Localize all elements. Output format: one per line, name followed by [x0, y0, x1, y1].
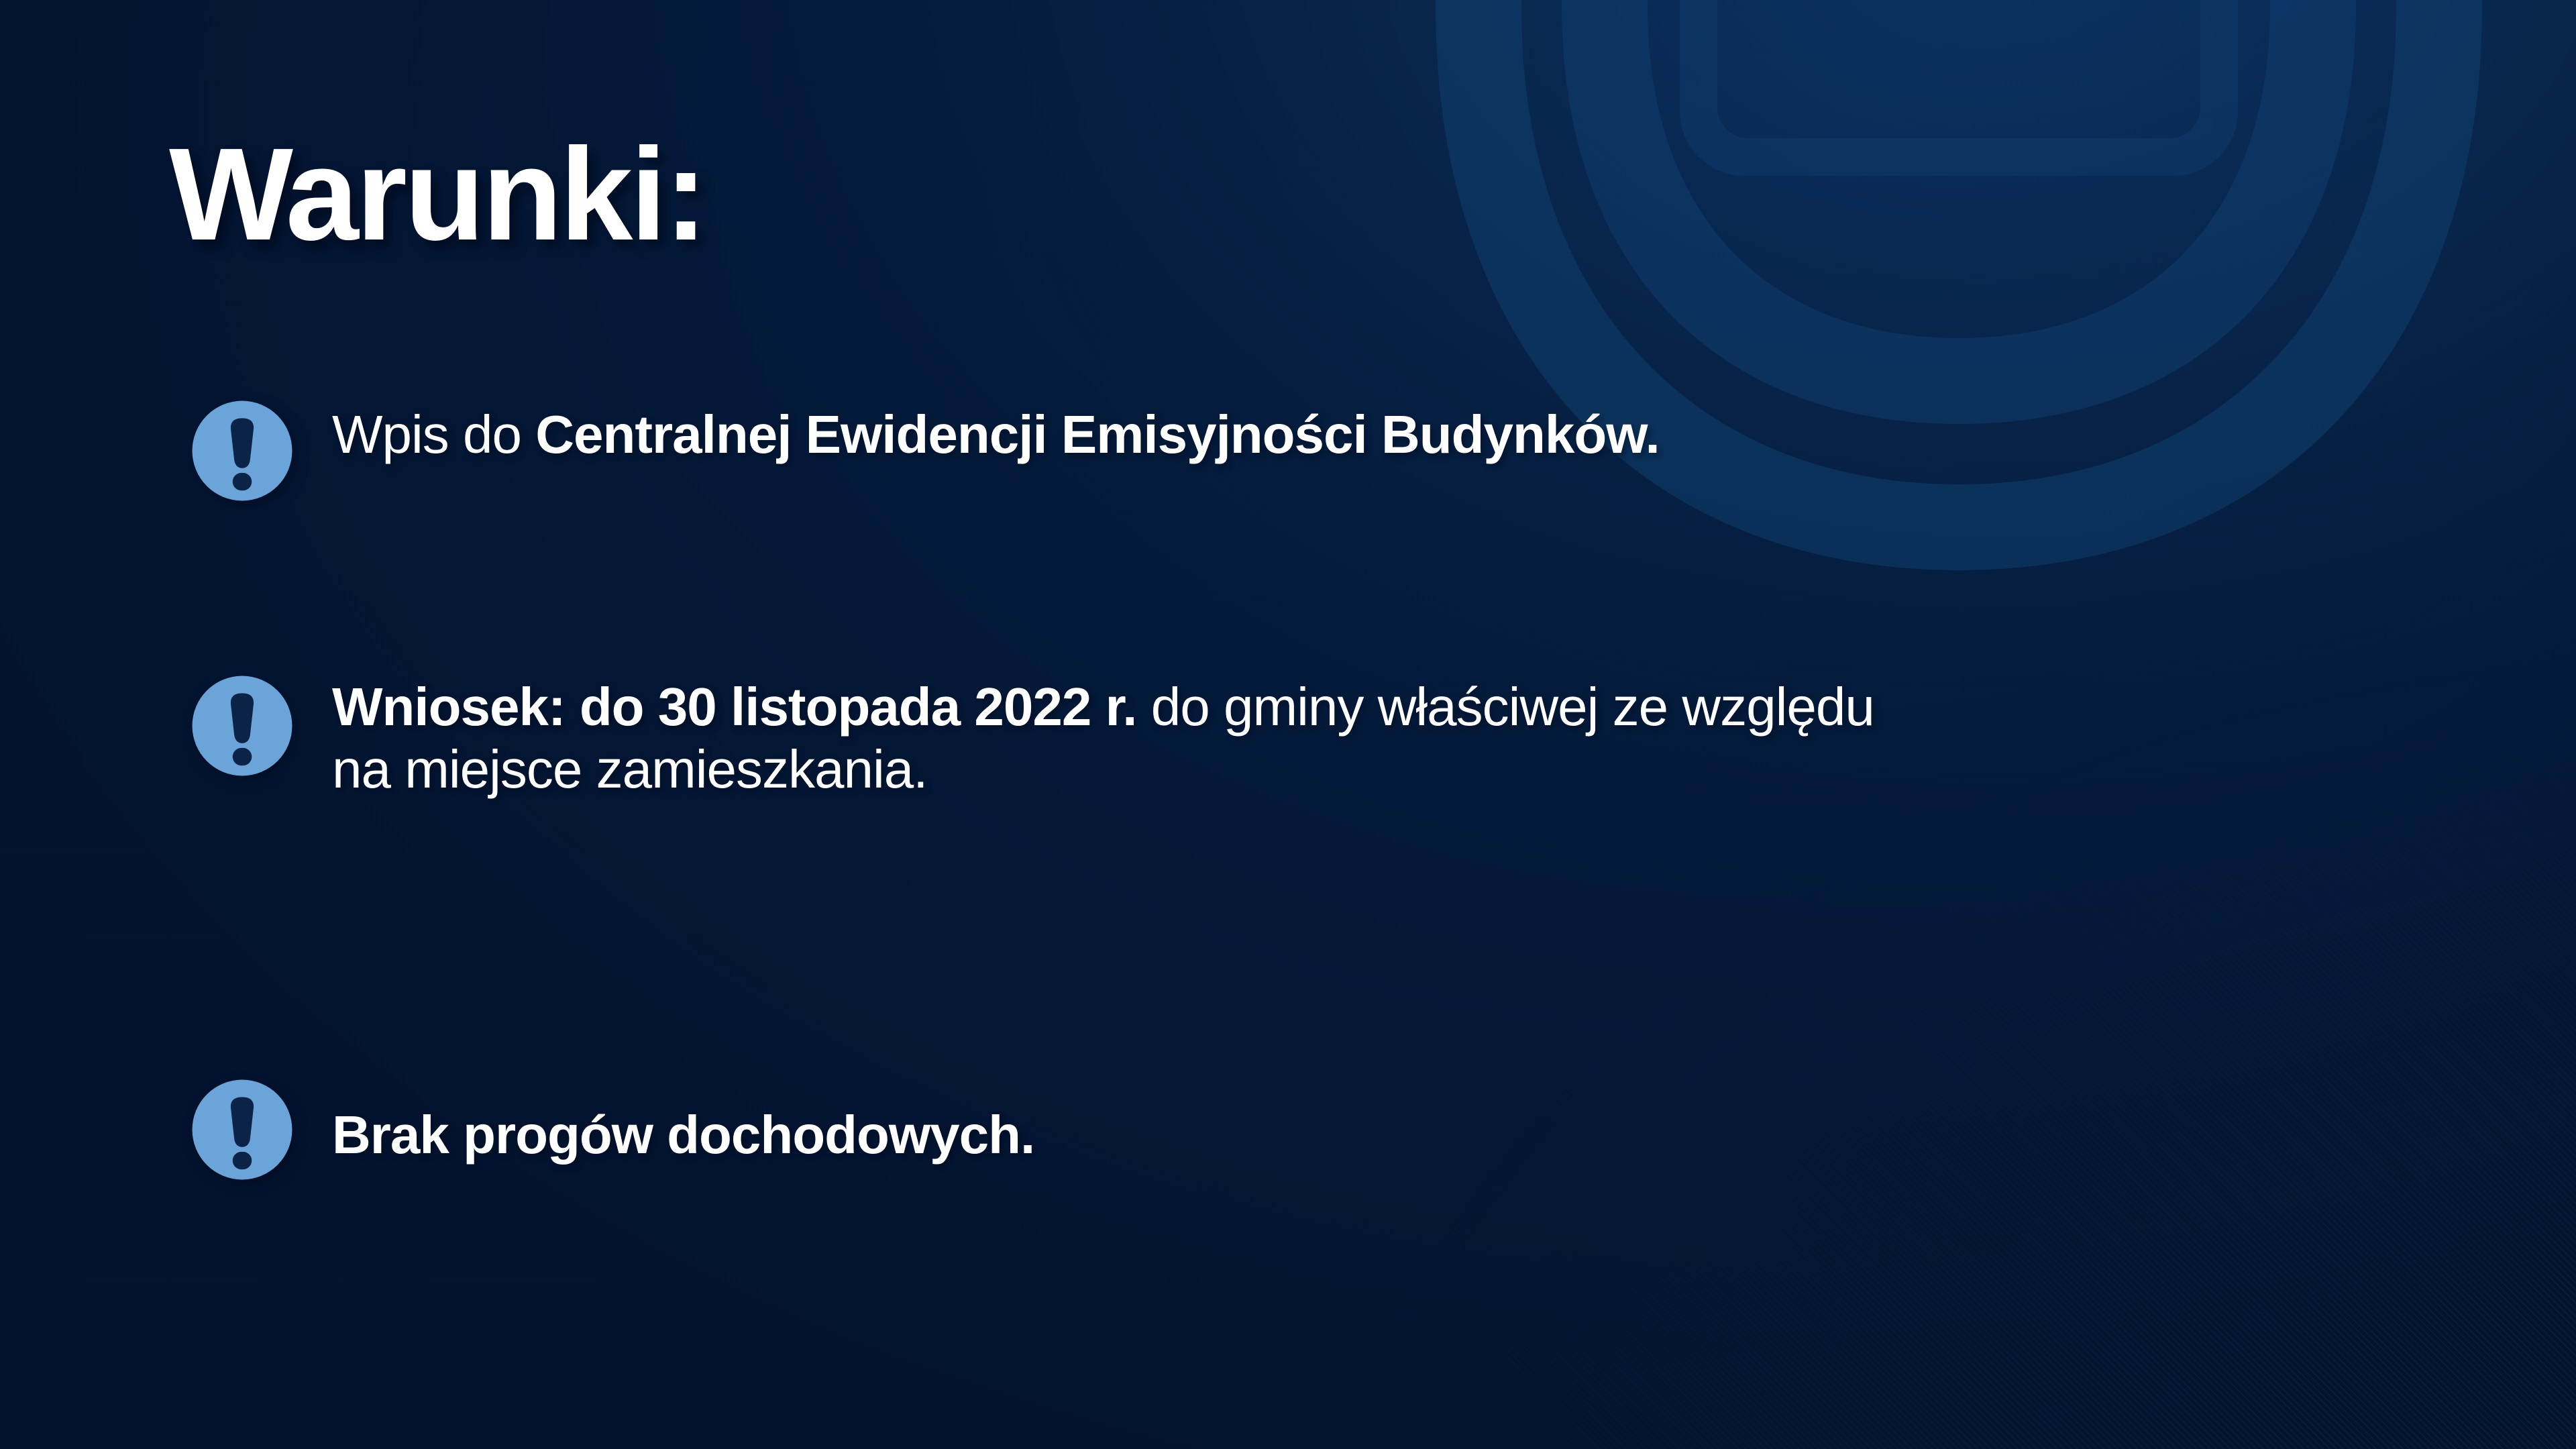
exclamation-circle-icon	[191, 400, 293, 502]
page-title: Warunki:	[169, 129, 705, 260]
list-item: Wpis do Centralnej Ewidencji Emisyjności…	[191, 400, 1660, 502]
list-item: Wniosek: do 30 listopada 2022 r. do gmin…	[191, 675, 1875, 801]
bullet-3-segment-bold: Brak progów dochodowych.	[332, 1105, 1034, 1165]
list-item-text: Wniosek: do 30 listopada 2022 r. do gmin…	[332, 675, 1875, 801]
list-item: Brak progów dochodowych.	[191, 1079, 1034, 1181]
slide-content: Warunki: Wpis do Centralnej Ewidencji Em…	[0, 0, 2576, 1449]
slide-canvas: Warunki: Wpis do Centralnej Ewidencji Em…	[0, 0, 2576, 1449]
bullet-1-segment-regular: Wpis do	[332, 405, 535, 464]
exclamation-circle-icon	[191, 675, 293, 777]
list-item-text: Wpis do Centralnej Ewidencji Emisyjności…	[332, 400, 1660, 466]
bullet-1-segment-bold: Centralnej Ewidencji Emisyjności Budynkó…	[535, 405, 1659, 464]
bullet-2-segment-bold: Wniosek: do 30 listopada 2022 r.	[332, 677, 1137, 737]
exclamation-circle-icon	[191, 1079, 293, 1181]
list-item-text: Brak progów dochodowych.	[332, 1079, 1034, 1167]
